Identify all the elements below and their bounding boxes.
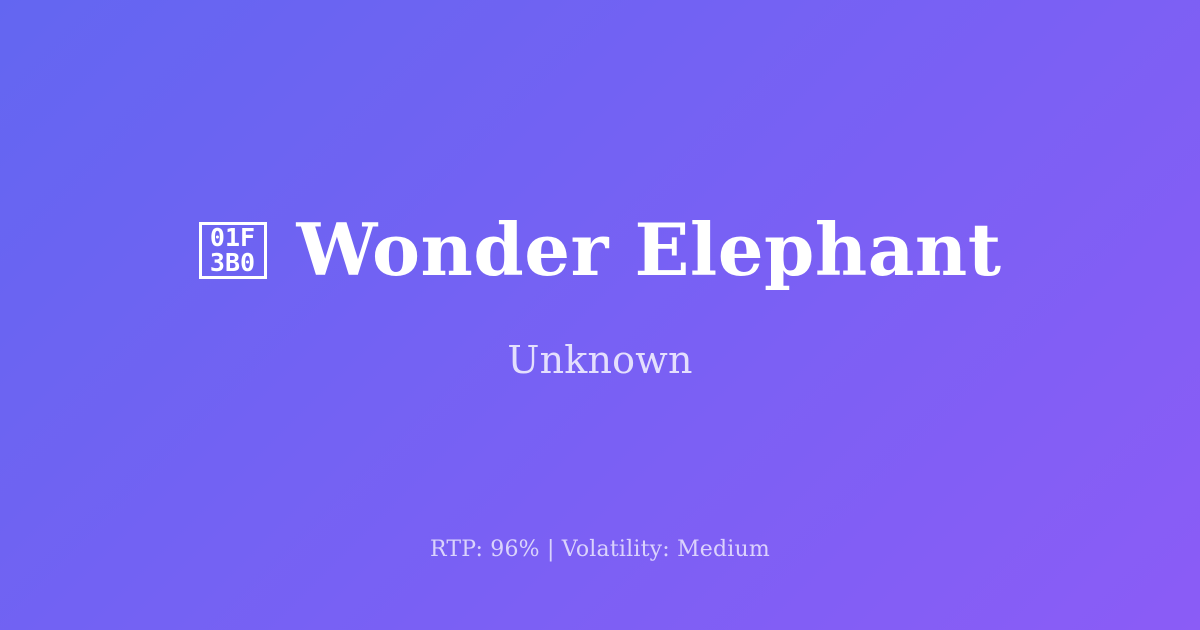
tofu-codepoint-bottom: 3B0 — [210, 250, 255, 275]
game-subtitle: Unknown — [507, 340, 692, 382]
tofu-codepoint-top: 01F — [210, 225, 255, 250]
game-stats-line: RTP: 96% | Volatility: Medium — [0, 537, 1200, 562]
hero-group: 01F 3B0 Wonder Elephant Unknown — [0, 212, 1200, 381]
title-row: 01F 3B0 Wonder Elephant — [199, 212, 1002, 288]
game-title: Wonder Elephant — [297, 212, 1002, 288]
slot-machine-icon: 01F 3B0 — [199, 222, 267, 279]
game-preview-card: 01F 3B0 Wonder Elephant Unknown RTP: 96%… — [0, 0, 1200, 630]
